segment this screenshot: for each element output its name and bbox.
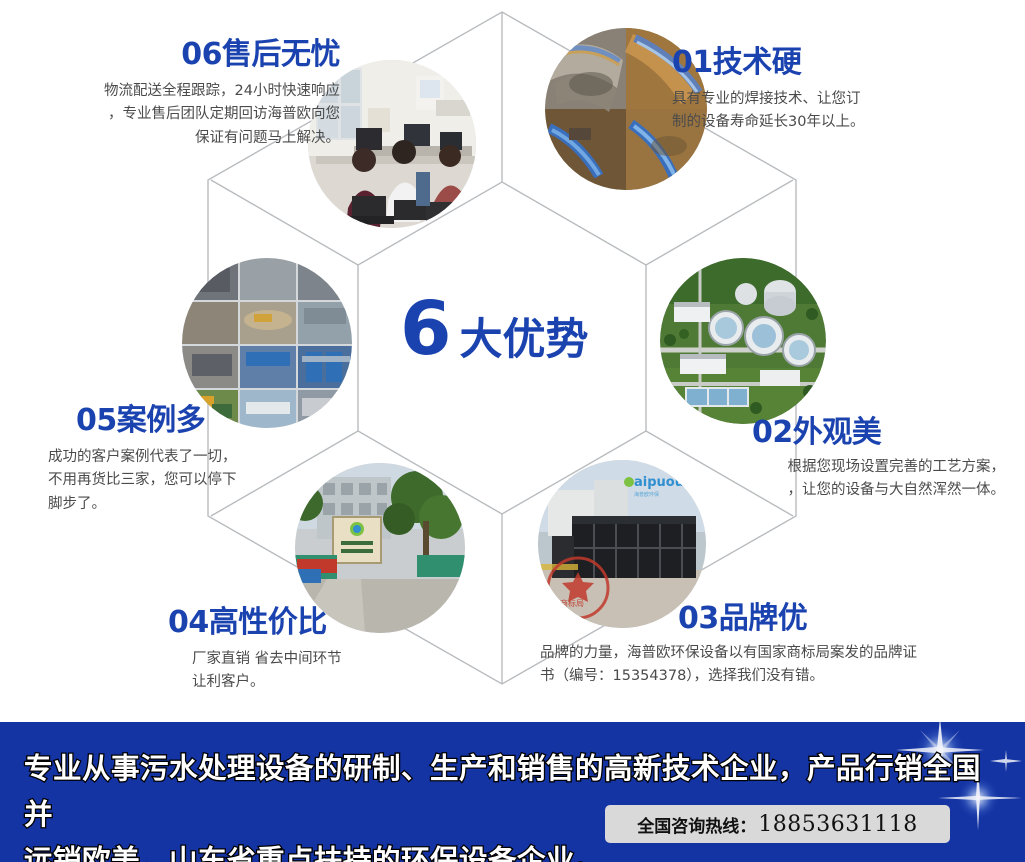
feature-05-cases: 05案例多 成功的客户案例代表了一切， 不用再货比三家，您可以停下 脚步了。 — [48, 406, 378, 516]
feature-03-title: 03品牌优 — [678, 604, 1010, 634]
feature-04-title: 04高性价比 — [168, 608, 498, 638]
feature-05-label: 案例多 — [117, 403, 206, 438]
feature-04-label: 高性价比 — [209, 605, 327, 640]
feature-06-desc: 物流配送全程跟踪，24小时快速响应 ，专业售后团队定期回访海普欧向您 保证有问题… — [10, 80, 340, 150]
feature-04-desc: 厂家直销 省去中间环节 让利客户。 — [192, 648, 498, 695]
svg-text:海普欧环保: 海普欧环保 — [634, 491, 659, 498]
hotline-label: 全国咨询热线： — [637, 812, 756, 837]
banner-text: 专业从事污水处理设备的研制、生产和销售的高新技术企业，产品行销全国并 远销欧美，… — [24, 746, 984, 862]
feature-01-title: 01技术硬 — [672, 48, 1002, 78]
feature-03-number: 03 — [678, 601, 719, 636]
center-title: 6 大优势 — [400, 292, 660, 382]
feature-01-desc: 具有专业的焊接技术、让您订 制的设备寿命延长30年以上。 — [672, 88, 1002, 135]
plant-aerial-photo — [660, 258, 826, 424]
feature-02-desc-line: ，让您的设备与大自然浑然一体。 — [660, 479, 1005, 502]
feature-05-number: 05 — [76, 403, 117, 438]
feature-06-desc-line: 物流配送全程跟踪，24小时快速响应 — [10, 80, 340, 103]
feature-02-desc: 根据您现场设置完善的工艺方案， ，让您的设备与大自然浑然一体。 — [660, 456, 1005, 503]
feature-04-number: 04 — [168, 605, 209, 640]
feature-05-desc-line: 不用再货比三家，您可以停下 — [48, 469, 378, 492]
feature-05-desc-line: 脚步了。 — [48, 493, 378, 516]
feature-05-desc: 成功的客户案例代表了一切， 不用再货比三家，您可以停下 脚步了。 — [48, 446, 378, 516]
feature-04-value: 04高性价比 厂家直销 省去中间环节 让利客户。 — [168, 608, 498, 695]
feature-06-label: 售后无忧 — [222, 37, 340, 72]
feature-06-desc-line: ，专业售后团队定期回访海普欧向您 — [10, 103, 340, 126]
feature-02-label: 外观美 — [793, 415, 882, 450]
feature-02-number: 02 — [752, 415, 793, 450]
feature-06-service: 06售后无忧 物流配送全程跟踪，24小时快速响应 ，专业售后团队定期回访海普欧向… — [10, 40, 340, 150]
feature-03-desc-line: 品牌的力量，海普欧环保设备以有国家商标局案发的品牌证 — [540, 642, 1010, 665]
infographic-page: aipuou 海普欧环保 商标局 — [0, 0, 1025, 862]
center-label: 大优势 — [460, 319, 589, 362]
feature-01-label: 技术硬 — [713, 45, 802, 80]
feature-04-desc-line: 让利客户。 — [192, 671, 498, 694]
hotline-box[interactable]: 全国咨询热线： 18853631118 — [605, 805, 950, 843]
feature-01-technology: 01技术硬 具有专业的焊接技术、让您订 制的设备寿命延长30年以上。 — [672, 48, 1002, 135]
feature-02-appearance: 02外观美 根据您现场设置完善的工艺方案， ，让您的设备与大自然浑然一体。 — [660, 418, 1005, 503]
feature-03-desc: 品牌的力量，海普欧环保设备以有国家商标局案发的品牌证 书（编号：15354378… — [540, 642, 1010, 689]
feature-05-desc-line: 成功的客户案例代表了一切， — [48, 446, 378, 469]
feature-04-desc-line: 厂家直销 省去中间环节 — [192, 648, 498, 671]
feature-05-title: 05案例多 — [76, 406, 378, 436]
feature-06-desc-line: 保证有问题马上解决。 — [10, 127, 340, 150]
feature-06-title: 06售后无忧 — [10, 40, 340, 70]
feature-02-desc-line: 根据您现场设置完善的工艺方案， — [660, 456, 1005, 479]
feature-03-label: 品牌优 — [719, 601, 808, 636]
feature-01-desc-line: 具有专业的焊接技术、让您订 — [672, 88, 1002, 111]
center-number: 6 — [400, 292, 450, 366]
feature-06-number: 06 — [181, 37, 222, 72]
feature-01-number: 01 — [672, 45, 713, 80]
hotline-number: 18853631118 — [758, 812, 917, 837]
feature-03-brand: 03品牌优 品牌的力量，海普欧环保设备以有国家商标局案发的品牌证 书（编号：15… — [540, 604, 1010, 689]
case-collage-photo — [182, 258, 352, 428]
feature-03-desc-line: 书（编号：15354378），选择我们没有错。 — [540, 665, 1010, 688]
feature-02-title: 02外观美 — [752, 418, 1005, 448]
spoke-upper-right — [646, 180, 793, 265]
feature-01-desc-line: 制的设备寿命延长30年以上。 — [672, 111, 1002, 134]
